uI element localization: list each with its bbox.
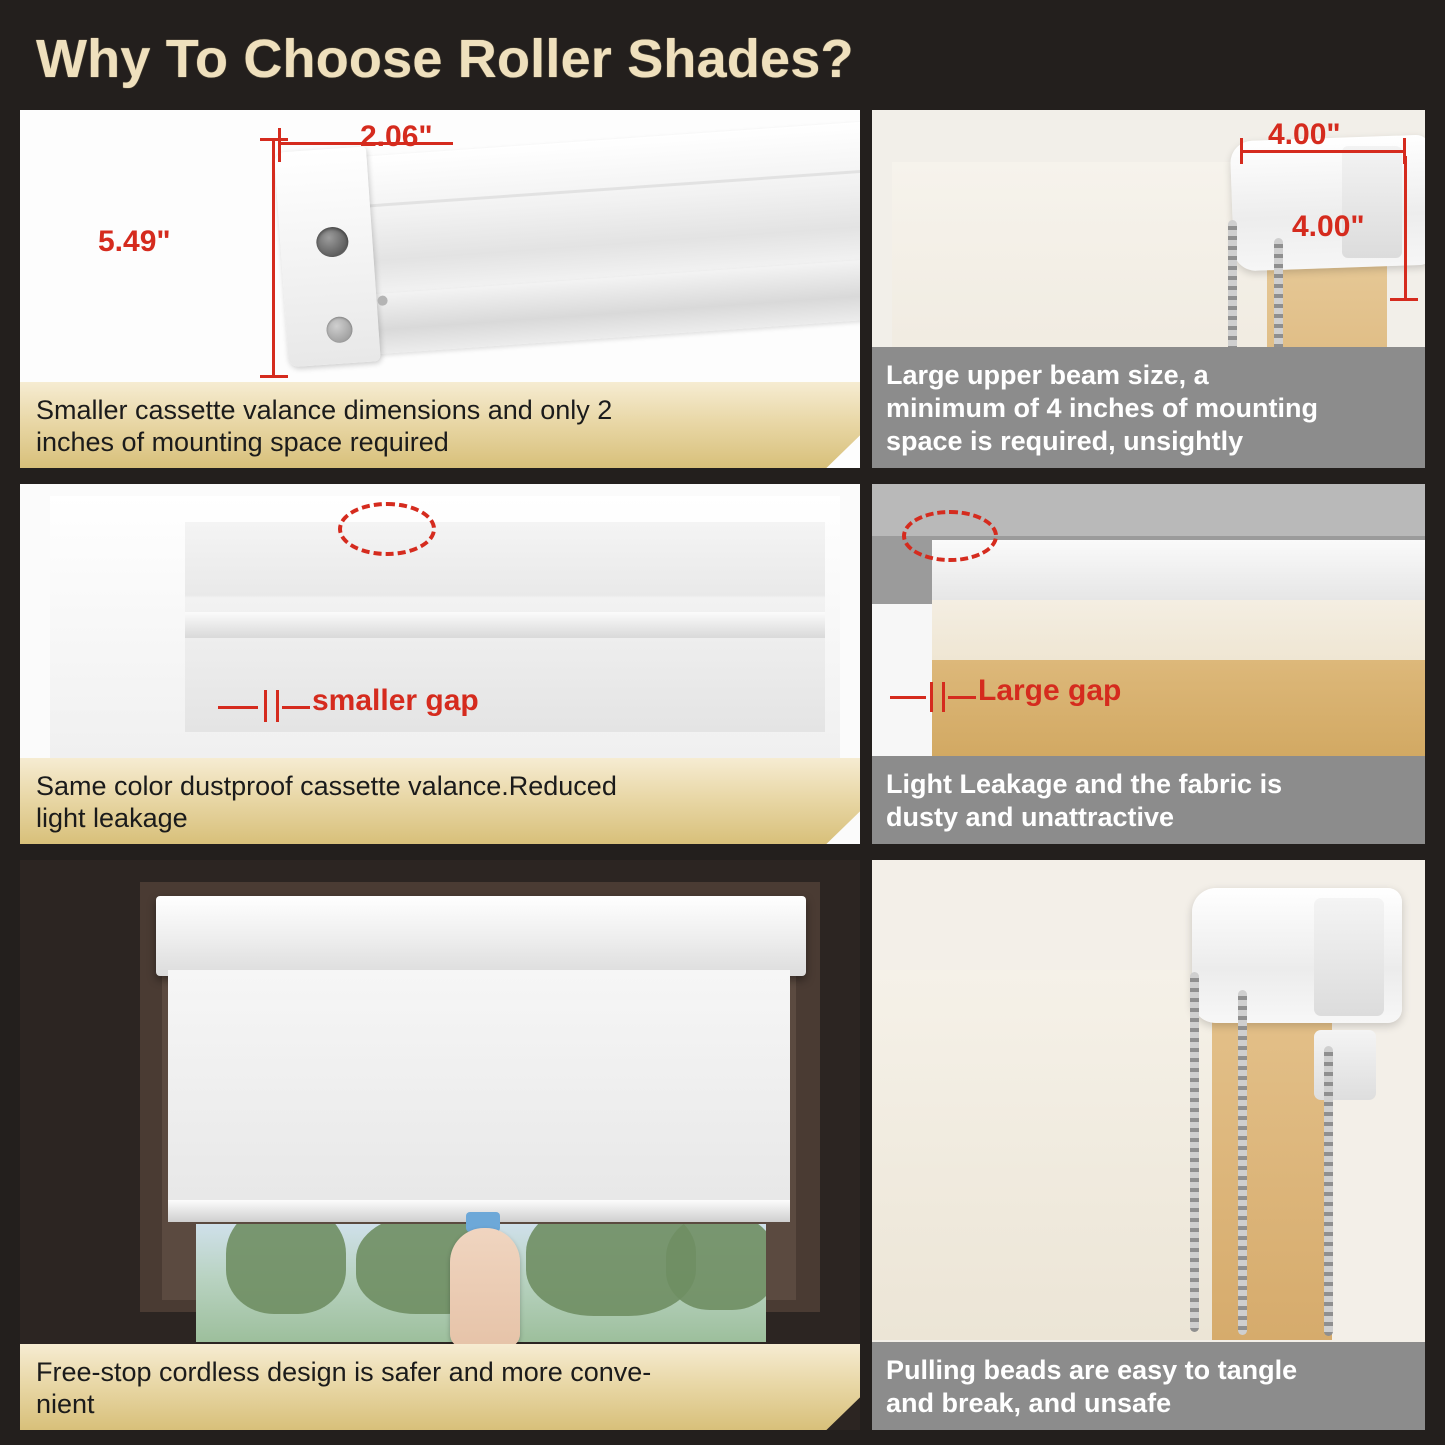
page-title: Why To Choose Roller Shades? [36,24,1416,94]
large-gap-label: Large gap [978,674,1121,708]
panel-cordless-design: Free-stop cordless design is safer and m… [20,860,860,1430]
gap-tick-a [930,682,933,712]
height-dim-tick-top [260,138,288,141]
shade-middle-rail [185,612,825,638]
panel-4-caption-line2: dusty and unattractive [886,801,1413,834]
panel-2-caption-line3: space is required, unsightly [886,425,1413,458]
width-dim-tick-left [278,128,281,162]
tree-shape [226,1224,346,1314]
panel-smaller-gap: smaller gap Same color dustproof cassett… [20,484,860,844]
panel-1-caption-line1: Smaller cassette valance dimensions and … [36,395,612,425]
beam-depth-tick [1390,298,1418,301]
hand-illustration [450,1228,520,1348]
shade-panel [168,970,790,1215]
panel-5-caption: Free-stop cordless design is safer and m… [20,1344,860,1430]
cassette-valance [156,896,806,976]
panel-6-caption: Pulling beads are easy to tangle and bre… [872,1342,1425,1430]
panel-4-caption: Light Leakage and the fabric is dusty an… [872,756,1425,844]
smaller-gap-label: smaller gap [312,684,479,718]
beam-depth-dim-line [1404,156,1407,301]
gap-arrow-right [282,706,310,709]
roller-beam [932,540,1425,600]
panel-1-caption-line2: inches of mounting space required [36,426,846,458]
valance-screw [326,316,354,344]
bead-chain-left [1190,972,1199,1332]
panel-smaller-cassette: 2.06" 5.49" Smaller cassette valance dim… [20,110,860,468]
panel-6-caption-line1: Pulling beads are easy to tangle [886,1355,1297,1385]
panel-3-caption: Same color dustproof cassette valance.Re… [20,758,860,844]
panel-3-caption-line1: Same color dustproof cassette valance.Re… [36,771,617,801]
panel-pulling-beads: Pulling beads are easy to tangle and bre… [872,860,1425,1430]
panel-3-caption-line2: light leakage [36,802,846,834]
panel-6-caption-line2: and break, and unsafe [886,1387,1413,1420]
panel-grid: 2.06" 5.49" Smaller cassette valance dim… [20,110,1425,1430]
bead-chain-right [1324,1046,1333,1336]
panel-2-caption-line1: Large upper beam size, a [886,360,1209,390]
valance-hole [315,226,349,258]
tree-shape [666,1224,766,1310]
panel-4-caption-line1: Light Leakage and the fabric is [886,769,1282,799]
panel-5-caption-line1: Free-stop cordless design is safer and m… [36,1357,651,1387]
beam-width-label: 4.00" [1268,118,1341,152]
gap-tick-a [264,690,267,722]
gap-tick-b [942,682,945,712]
gap-arrow-left [890,696,926,699]
valance-end-cap [274,146,381,367]
panel-2-caption: Large upper beam size, a minimum of 4 in… [872,347,1425,468]
height-dim-tick-bottom [260,375,288,378]
panel-large-beam: 4.00" 4.00" Large upper beam size, a min… [872,110,1425,468]
infographic-page: Why To Choose Roller Shades? 2.06" [0,0,1445,1445]
beam-width-tick-left [1240,138,1243,164]
panel-large-gap: Large gap Light Leakage and the fabric i… [872,484,1425,844]
gap-highlight-ellipse [338,502,436,556]
beam-depth-label: 4.00" [1292,210,1365,244]
beam-bracket-top [1314,898,1384,1016]
height-dim-label: 5.49" [98,225,171,259]
bead-chain-middle [1238,990,1247,1335]
panel-5-caption-line2: nient [36,1388,846,1420]
gap-arrow-left [218,706,258,709]
gap-tick-b [276,690,279,722]
fabric-upper [932,600,1425,660]
gap-arrow-right [948,696,976,699]
width-dim-label: 2.06" [360,120,433,154]
height-dim-line [272,138,275,378]
gap-highlight-ellipse [902,510,998,562]
panel-2-caption-line2: minimum of 4 inches of mounting [886,392,1413,425]
valance-illustration [264,111,860,403]
panel-1-caption: Smaller cassette valance dimensions and … [20,382,860,468]
